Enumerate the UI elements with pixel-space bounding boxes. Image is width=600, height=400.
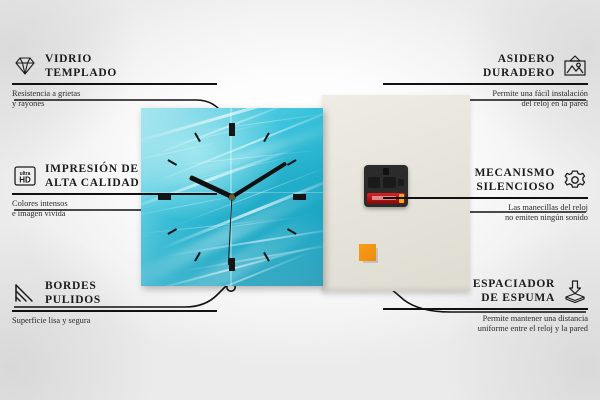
infographic-canvas: VIDRIO TEMPLADO Resistencia a grietas y …	[0, 0, 600, 400]
feature-vidrio-templado: VIDRIO TEMPLADO Resistencia a grietas y …	[12, 52, 217, 109]
feature-description: Permite una fácil instalación del reloj …	[383, 89, 588, 110]
mechanism-panel-left	[368, 177, 380, 188]
feature-description: Colores intensos e imagen vívida	[12, 199, 217, 220]
feature-asidero-duradero: ASIDERO DURADERO Permite una fácil insta…	[383, 52, 588, 109]
feature-divider	[12, 83, 217, 85]
feature-title: VIDRIO TEMPLADO	[45, 52, 117, 80]
tick-mark	[231, 123, 233, 197]
feature-bordes-pulidos: BORDES PULIDOS Superficie lisa y segura	[12, 279, 217, 326]
gear-icon	[562, 168, 588, 192]
wall-hanger-frame-icon	[562, 54, 588, 78]
feature-description: Resistencia a grietas y rayones	[12, 89, 217, 110]
feature-divider	[383, 83, 588, 85]
tick-mark	[232, 196, 306, 198]
feature-mecanismo-silencioso: MECANISMO SILENCIOSO Las manecillas del …	[383, 166, 588, 223]
svg-text:HD: HD	[19, 176, 31, 185]
feature-title: ASIDERO DURADERO	[483, 52, 555, 80]
feature-impresion-alta-calidad: ultra HD IMPRESIÓN DE ALTA CALIDAD Color…	[12, 162, 217, 219]
feature-divider	[383, 308, 588, 310]
ultra-hd-icon: ultra HD	[12, 164, 38, 188]
hands-center-cap	[229, 194, 235, 200]
polished-edges-icon	[12, 281, 38, 305]
feature-description: Permite mantener una distancia uniforme …	[383, 314, 588, 335]
feature-description: Las manecillas del reloj no emiten ningú…	[383, 203, 588, 224]
foam-spacer-pad	[359, 244, 376, 261]
feature-description: Superficie lisa y segura	[12, 316, 217, 326]
foam-spacer-arrow-icon	[562, 279, 588, 303]
feature-title: BORDES PULIDOS	[45, 279, 101, 307]
feature-title: IMPRESIÓN DE ALTA CALIDAD	[45, 162, 139, 190]
feature-divider	[12, 193, 217, 195]
feature-divider	[12, 310, 217, 312]
feature-espaciador-de-espuma: ESPACIADOR DE ESPUMA Permite mantener un…	[383, 277, 588, 334]
feature-title: MECANISMO SILENCIOSO	[475, 166, 555, 194]
diamond-icon	[12, 54, 38, 78]
feature-title: ESPACIADOR DE ESPUMA	[473, 277, 555, 305]
feature-divider	[383, 197, 588, 199]
